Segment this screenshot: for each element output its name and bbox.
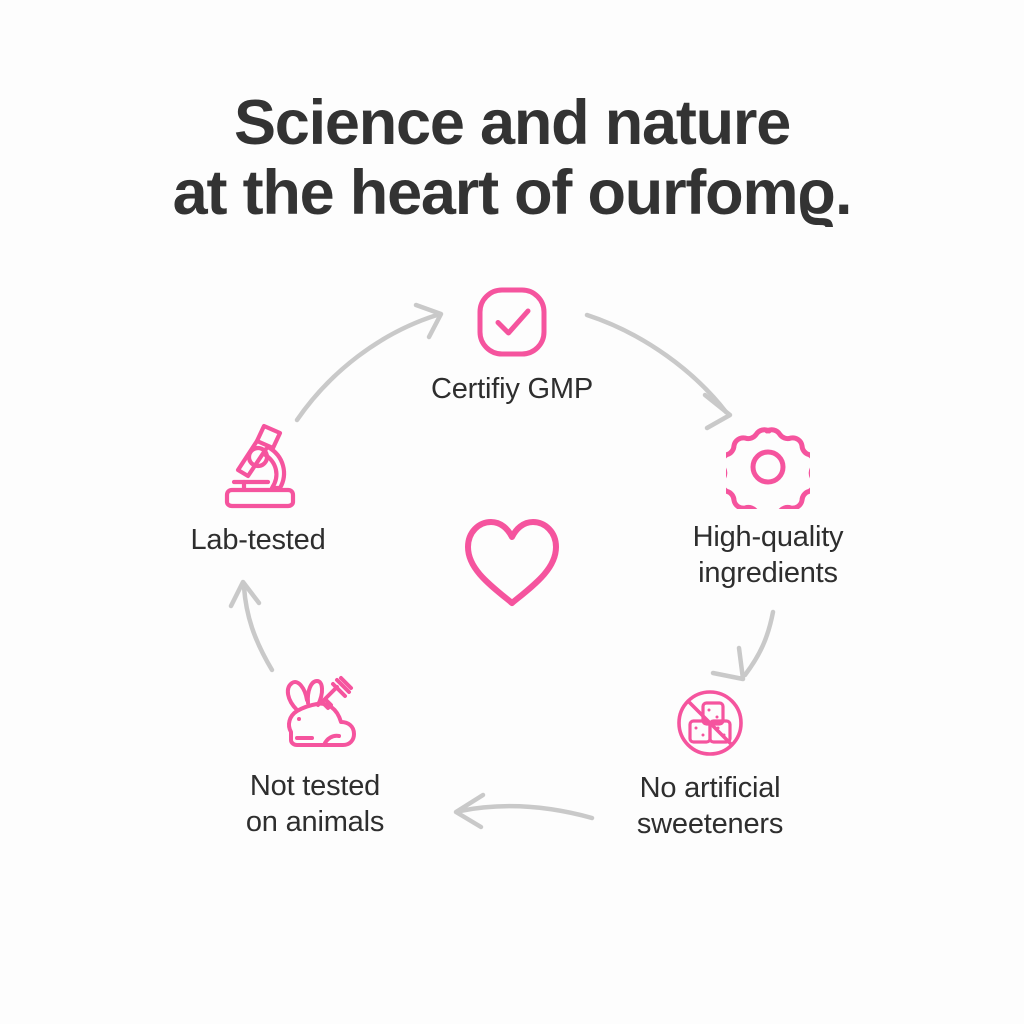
microscope-icon (128, 420, 388, 512)
cycle-node-ingredients[interactable]: High-quality ingredients (638, 425, 898, 591)
cycle-node-animals-label: Not tested on animals (185, 768, 445, 840)
check-rounded-square-icon (382, 283, 642, 361)
arrow-ingredients-to-sweeteners (713, 612, 773, 679)
cycle-node-lab[interactable]: Lab-tested (128, 420, 388, 558)
cycle-diagram: Certifiy GMP High-quality ingredients (0, 0, 1024, 1024)
cycle-node-animals[interactable]: Not tested on animals (185, 672, 445, 840)
cycle-node-ingredients-label: High-quality ingredients (638, 519, 898, 591)
infographic-canvas: Science and nature at the heart of ourfo… (0, 0, 1024, 1024)
arrow-animals-to-lab (231, 582, 272, 670)
cycle-node-gmp-label: Certifiy GMP (382, 371, 642, 407)
cycle-node-sweeteners[interactable]: No artificial sweeteners (580, 686, 840, 842)
cycle-node-lab-label: Lab-tested (128, 522, 388, 558)
cycle-node-sweeteners-label: No artificial sweeteners (580, 770, 840, 842)
rabbit-syringe-icon (185, 672, 445, 758)
no-sugar-cubes-icon (580, 686, 840, 760)
cycle-node-gmp[interactable]: Certifiy GMP (382, 283, 642, 407)
arrow-sweeteners-to-animals (456, 795, 592, 827)
flower-badge-icon (638, 425, 898, 509)
heart-icon (452, 515, 572, 611)
